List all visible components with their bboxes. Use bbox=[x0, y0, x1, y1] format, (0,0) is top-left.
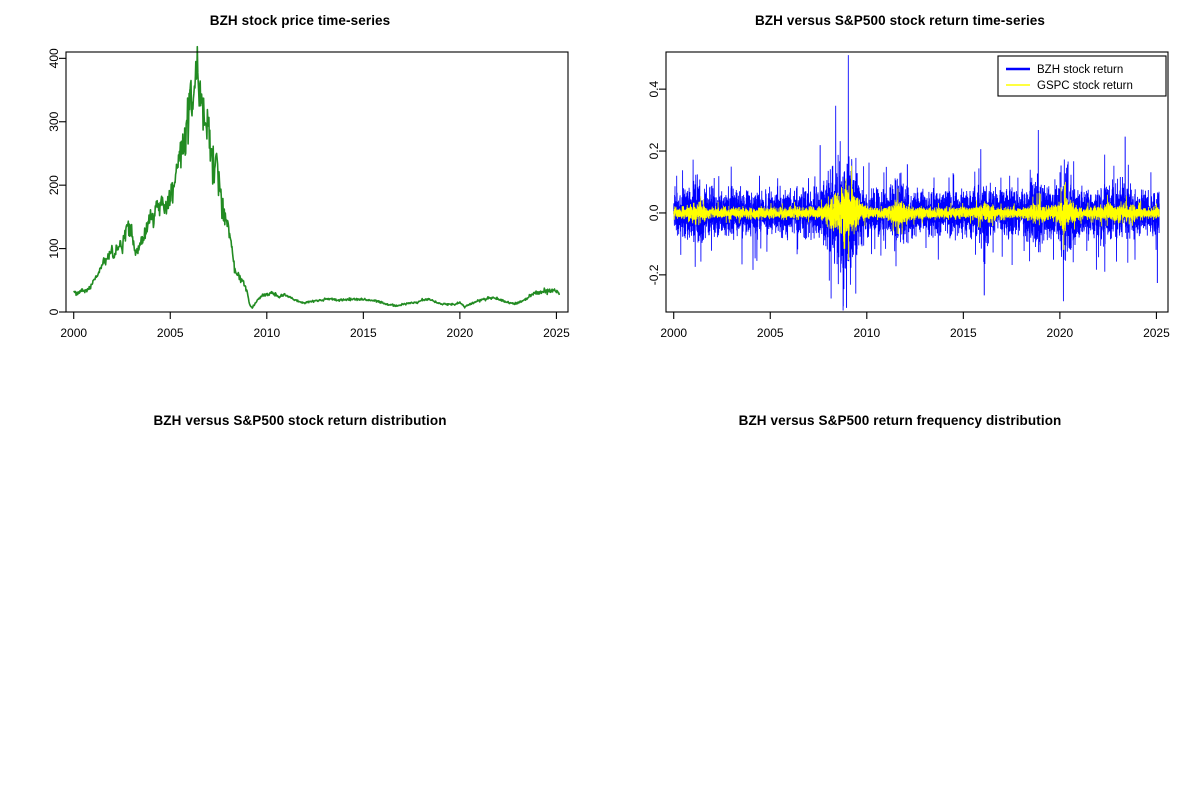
panel-title-return-freq: BZH versus S&P500 return frequency distr… bbox=[600, 400, 1200, 440]
panel-bzh-price-timeseries: BZH stock price time-series 200020052010… bbox=[0, 0, 600, 400]
legend-label-gspc: GSPC stock return bbox=[1037, 80, 1133, 92]
y-axis-label: 200 bbox=[47, 175, 61, 195]
x-axis-label: 2010 bbox=[853, 326, 880, 340]
x-axis-label: 2005 bbox=[757, 326, 784, 340]
x-axis-label: 2015 bbox=[950, 326, 977, 340]
y-axis-label: -0.2 bbox=[647, 264, 661, 285]
panel-bzh-gspc-return-frequency: BZH versus S&P500 return frequency distr… bbox=[600, 400, 1200, 800]
y-axis-label: 0.4 bbox=[647, 80, 661, 97]
x-axis-label: 2025 bbox=[543, 326, 570, 340]
x-axis-label: 2025 bbox=[1143, 326, 1170, 340]
x-axis-label: 2005 bbox=[157, 326, 184, 340]
x-axis-label: 2020 bbox=[1047, 326, 1074, 340]
panel-title-return-dist: BZH versus S&P500 stock return distribut… bbox=[0, 400, 600, 440]
y-axis-label: 0.0 bbox=[647, 204, 661, 221]
chart-bzh-gspc-return-distribution: -0.20.00.20.401020304050BZH return distr… bbox=[0, 400, 600, 800]
y-axis-label: 400 bbox=[47, 48, 61, 68]
x-axis-label: 2020 bbox=[447, 326, 474, 340]
panel-title-price: BZH stock price time-series bbox=[0, 0, 600, 40]
x-axis-label: 2000 bbox=[660, 326, 687, 340]
legend-label-bzh: BZH stock return bbox=[1037, 64, 1123, 76]
x-axis-label: 2015 bbox=[350, 326, 377, 340]
x-axis-label: 2000 bbox=[60, 326, 87, 340]
chart-bzh-gspc-return-frequency: 01000200030004000frequency[-0.298,-0.271… bbox=[600, 400, 1200, 800]
y-axis-label: 0 bbox=[47, 308, 61, 315]
panel-title-return-ts: BZH versus S&P500 stock return time-seri… bbox=[600, 0, 1200, 40]
chart-bzh-price-timeseries: 2000200520102015202020250100200300400 bbox=[0, 0, 600, 400]
panel-bzh-gspc-return-distribution: BZH versus S&P500 stock return distribut… bbox=[0, 400, 600, 800]
chart-bzh-gspc-return-timeseries: 200020052010201520202025-0.20.00.20.4BZH… bbox=[600, 0, 1200, 400]
y-axis-label: 100 bbox=[47, 238, 61, 258]
plot-box bbox=[66, 52, 568, 312]
legend: BZH stock returnGSPC stock return bbox=[998, 56, 1166, 96]
y-axis-label: 0.2 bbox=[647, 142, 661, 159]
figure-grid: BZH stock price time-series 200020052010… bbox=[0, 0, 1200, 800]
panel-bzh-gspc-return-timeseries: BZH versus S&P500 stock return time-seri… bbox=[600, 0, 1200, 400]
y-axis-label: 300 bbox=[47, 111, 61, 131]
price-line-bzh bbox=[74, 47, 560, 308]
x-axis-label: 2010 bbox=[253, 326, 280, 340]
